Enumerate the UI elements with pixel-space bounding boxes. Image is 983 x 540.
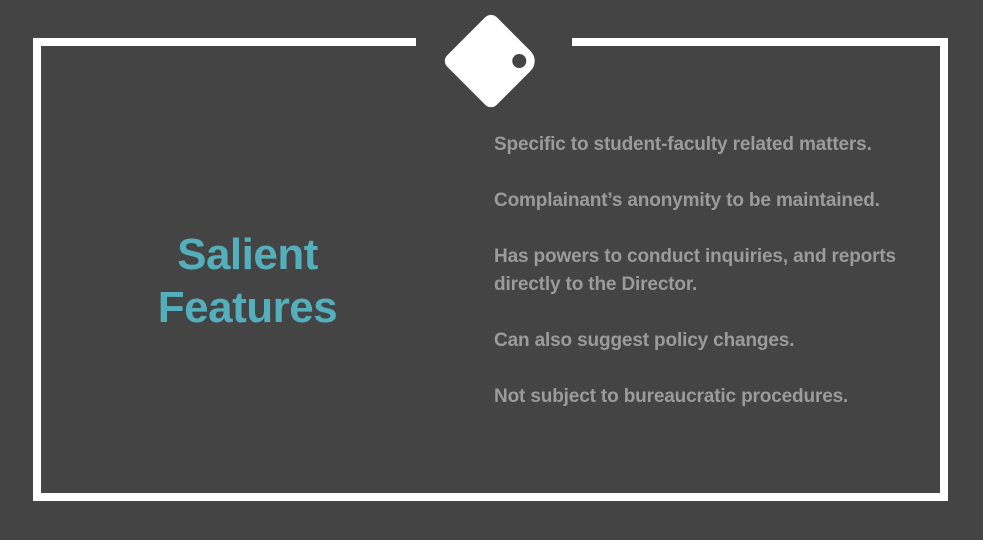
frame-border-right (940, 38, 948, 501)
frame-border-left (33, 38, 41, 501)
features-list: Specific to student-faculty related matt… (494, 131, 924, 411)
page-title: Salient Features (60, 228, 435, 334)
frame-border-top-right (572, 38, 948, 46)
list-item: Complainant’s anonymity to be maintained… (494, 187, 924, 215)
tag-icon (443, 13, 539, 109)
frame-border-top-left (33, 38, 416, 46)
frame-border-bottom (33, 493, 948, 501)
list-item: Not subject to bureaucratic procedures. (494, 383, 924, 411)
list-item: Can also suggest policy changes. (494, 327, 924, 355)
list-item: Has powers to conduct inquiries, and rep… (494, 243, 924, 299)
page-title-line-2: Features (60, 281, 435, 334)
list-item: Specific to student-faculty related matt… (494, 131, 924, 159)
slide-canvas: Salient Features Specific to student-fac… (0, 0, 983, 540)
page-title-line-1: Salient (60, 228, 435, 281)
